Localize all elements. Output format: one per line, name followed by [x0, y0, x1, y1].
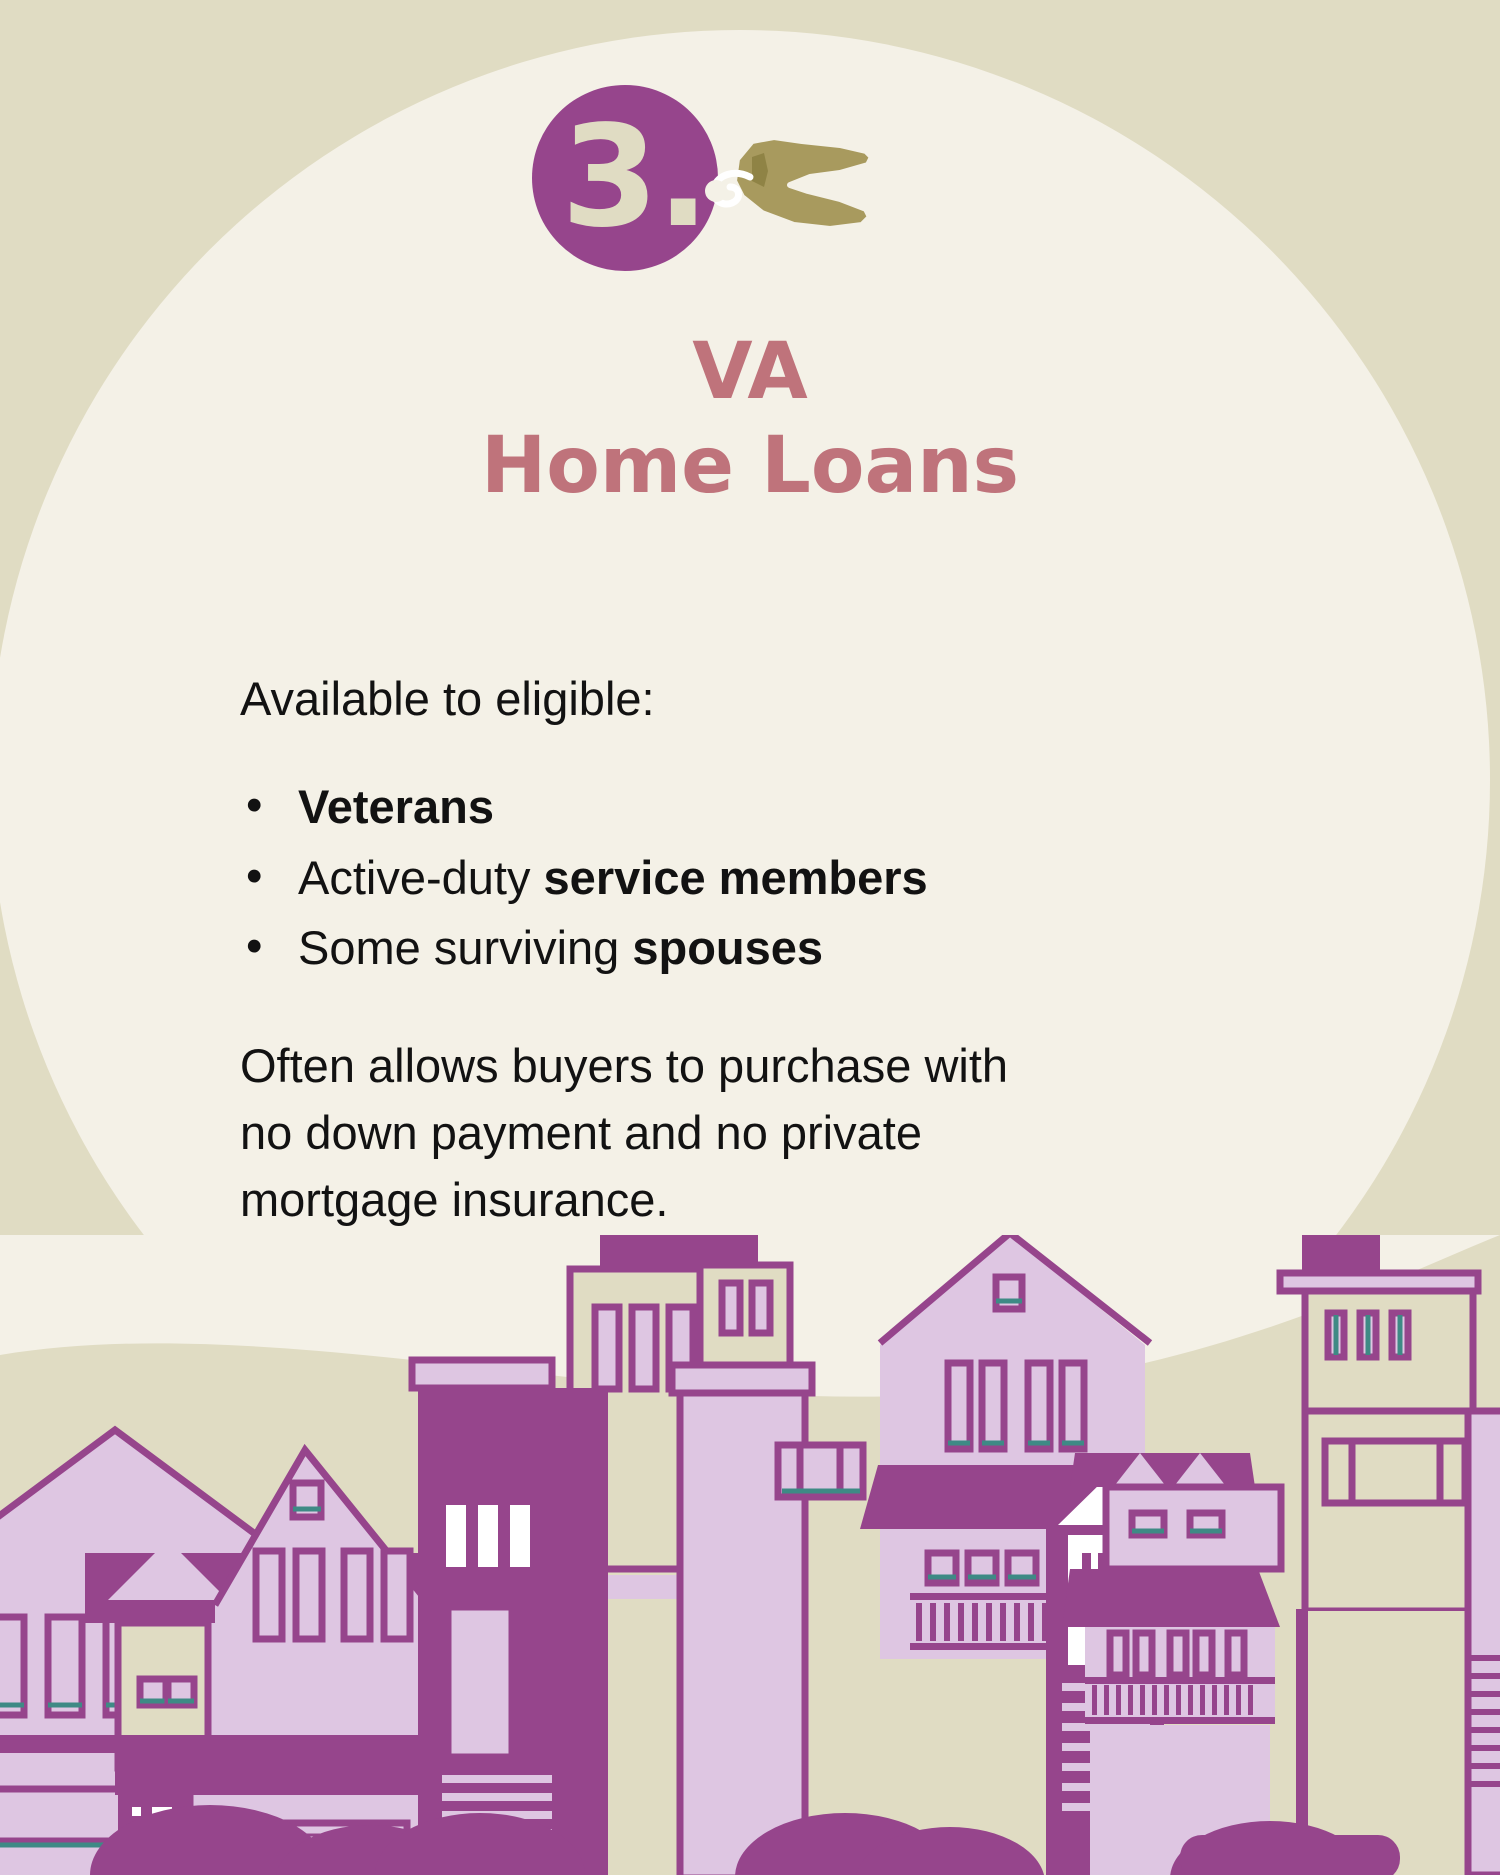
bullet-plain-prefix: Some surviving [298, 921, 632, 974]
title-line-2: Home Loans [0, 424, 1500, 508]
eligibility-list: Veterans Active-duty service members Som… [240, 775, 1270, 982]
list-item: Some surviving spouses [240, 916, 1270, 981]
building-far-right-striped [1468, 1411, 1500, 1875]
step-badge: 3. [0, 85, 1500, 275]
building-center-purple [412, 1360, 608, 1875]
lead-text: Available to eligible: [240, 670, 1270, 729]
list-item: Veterans [240, 775, 1270, 840]
description-paragraph: Often allows buyers to purchase with no … [240, 1033, 1040, 1233]
content-block: Available to eligible: Veterans Active-d… [240, 670, 1270, 1234]
bullet-bold: Veterans [298, 780, 494, 833]
list-item: Active-duty service members [240, 846, 1270, 911]
badge-number: 3. [532, 85, 737, 271]
page-title: VA Home Loans [0, 330, 1500, 508]
infographic-card: 3. VA Home Loans Available to eligible: … [0, 0, 1500, 1875]
bullet-plain-prefix: Active-duty [298, 851, 544, 904]
bullet-bold: spouses [632, 921, 823, 974]
building-far-right [1280, 1235, 1478, 1875]
bullet-bold: service members [544, 851, 928, 904]
neighborhood-illustration: .L { fill:#DEC6E2; } /* light lavender *… [0, 1235, 1500, 1875]
title-line-1: VA [0, 330, 1500, 414]
